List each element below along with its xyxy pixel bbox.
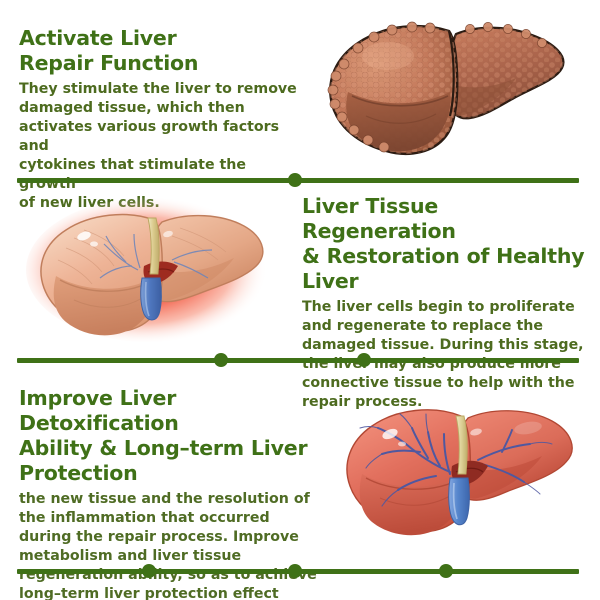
divider-dot: [142, 564, 156, 578]
divider-dot: [357, 353, 371, 367]
divider-2: [17, 353, 579, 367]
divider-1: [17, 173, 579, 187]
healthy-liver-illustration: [332, 388, 590, 553]
section-3-body: the new tissue and the resolution of the…: [19, 490, 339, 600]
section-2-text-block: Liver Tissue Regeneration & Restoration …: [302, 194, 590, 412]
divider-line: [17, 358, 579, 363]
inflamed-pale-liver-illustration: [22, 192, 290, 352]
section-2-heading: Liver Tissue Regeneration & Restoration …: [302, 194, 590, 294]
cirrhotic-nodular-liver-illustration: [318, 12, 586, 167]
divider-dot: [439, 564, 453, 578]
section-3-heading: Improve Liver Detoxification Ability & L…: [19, 386, 339, 486]
divider-dot: [288, 564, 302, 578]
infographic-canvas: Activate Liver Repair Function They stim…: [0, 0, 600, 600]
divider-dot: [214, 353, 228, 367]
divider-3: [17, 564, 579, 578]
divider-dot: [288, 173, 302, 187]
section-1-heading: Activate Liver Repair Function: [19, 26, 304, 76]
